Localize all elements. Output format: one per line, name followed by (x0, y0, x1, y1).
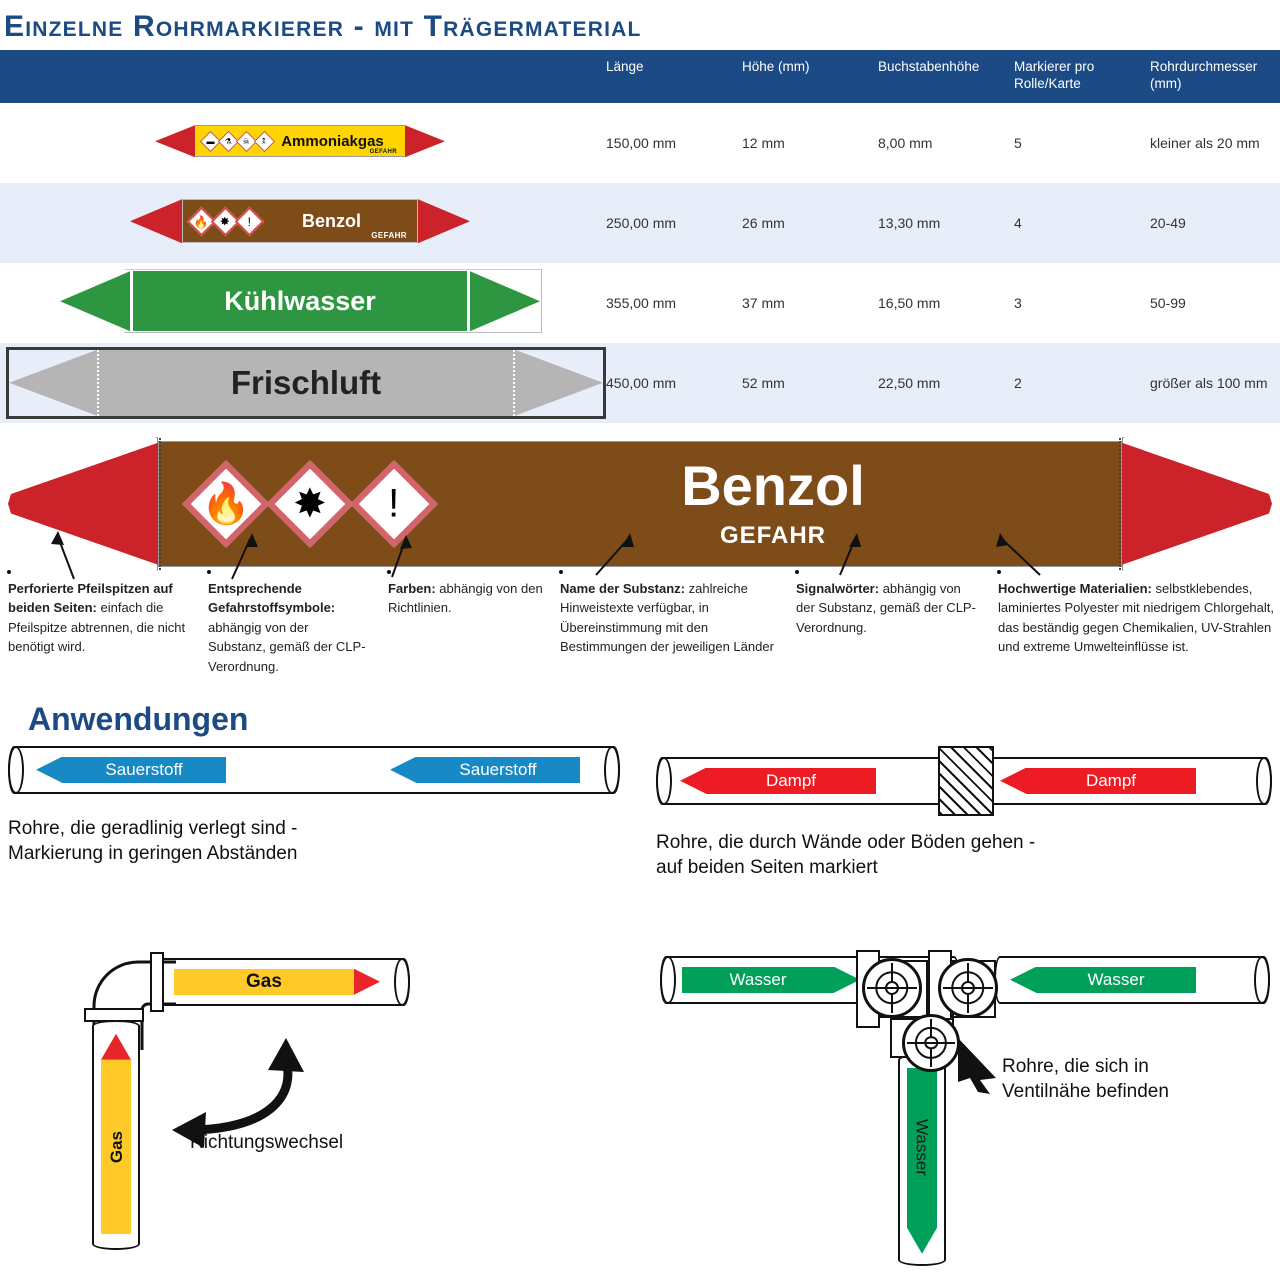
arrow-tip-right-icon (405, 125, 445, 157)
marker-substance-name: Gas (246, 971, 282, 993)
marker-substance-name: Dampf (766, 771, 816, 791)
marker-substance-name: Kühlwasser (137, 288, 463, 315)
cell-pipe-diameter: größer als 100 mm (1144, 343, 1280, 423)
application-caption: Rohre, die durch Wände oder Böden gehen … (656, 830, 1272, 881)
table-row: ▬ ⚗ ☠ 🕱 Ammoniakgas GEFAHR 150,00 mm 12 … (0, 103, 1280, 183)
cell-letter-height: 13,30 mm (872, 183, 1008, 263)
arrow-tip-left-icon (130, 199, 182, 243)
marker-label-area: Wasser (907, 1068, 937, 1228)
caption-line: Richtungswechsel (190, 1130, 343, 1156)
marker-substance-name: Benzol (425, 458, 1121, 514)
marker-body: 🔥 ✸ ! Benzol GEFAHR (158, 441, 1122, 567)
caption-line: Rohre, die sich in (1002, 1054, 1169, 1080)
marker-substance-name: Gas (108, 1131, 125, 1163)
hazard-pictogram-group: ▬ ⚗ ☠ 🕱 (199, 134, 272, 149)
exclamation-icon: ! (235, 206, 265, 236)
application-wall-pass: Dampf Dampf Rohre, die durch Wände oder … (656, 746, 1272, 881)
column-header-length: Länge (600, 50, 736, 103)
table-header-row: Länge Höhe (mm) Buchstabenhöhe Markierer… (0, 50, 1280, 103)
cell-pipe-diameter: kleiner als 20 mm (1144, 103, 1280, 183)
marker-sample-frischluft: Frischluft (0, 343, 600, 423)
pipe-marker-tape: Gas (101, 1034, 131, 1234)
marker-substance-name: Dampf (1086, 771, 1136, 791)
pipe-marker-tape: Sauerstoff (390, 757, 580, 783)
cell-height: 52 mm (736, 343, 872, 423)
marker-substance-name: Frischluft (101, 366, 511, 399)
perforation-line-left (159, 438, 161, 570)
arrow-left-icon (36, 757, 62, 783)
cell-per-roll: 3 (1008, 263, 1144, 343)
caption-line: Rohre, die geradlinig verlegt sind - (8, 816, 620, 842)
pipe-marker-tape: Dampf (1000, 768, 1196, 794)
pipe-graphic-horizontal: Gas (158, 958, 410, 1006)
caption-line: Markierung in geringen Abständen (8, 841, 620, 867)
arrow-tip-left-icon (60, 271, 130, 331)
callout-lead: Signalwörter: (796, 581, 879, 596)
pipe-marker-tape: Wasser (907, 1068, 937, 1254)
cell-height: 12 mm (736, 103, 872, 183)
application-valve-area: Wasser Wasser Wasser (650, 936, 1280, 1266)
arrow-tip-left-icon (155, 125, 195, 157)
arrow-tip-right-icon (515, 350, 603, 416)
cell-length: 355,00 mm (600, 263, 736, 343)
valve-handwheel-icon[interactable] (862, 958, 922, 1018)
callout-signal-words: Signalwörter: abhängig von der Substanz,… (796, 579, 976, 638)
pipe-end-cap-icon (1256, 757, 1272, 805)
marker-sample-benzol: 🔥 ✸ ! Benzol GEFAHR (0, 183, 600, 263)
cell-letter-height: 8,00 mm (872, 103, 1008, 183)
caption-line: Ventilnähe befinden (1002, 1079, 1169, 1105)
pipe-end-cap-icon (656, 757, 672, 805)
cell-length: 450,00 mm (600, 343, 736, 423)
marker-signal-word: GEFAHR (425, 522, 1121, 550)
pipe-graphic-right: Wasser (994, 956, 1270, 1004)
table-row: 🔥 ✸ ! Benzol GEFAHR 250,00 mm 26 mm 13,3… (0, 183, 1280, 263)
marker-substance-name: Wasser (730, 970, 787, 990)
marker-signal-word: GEFAHR (370, 149, 397, 155)
valve-handwheel-icon[interactable] (938, 958, 998, 1018)
arrow-right-icon (354, 969, 380, 995)
marker-label-area: Sauerstoff (416, 757, 580, 783)
pipe-marker: ▬ ⚗ ☠ 🕱 Ammoniakgas GEFAHR (155, 125, 445, 157)
marker-body: 🔥 ✸ ! Benzol GEFAHR (182, 199, 418, 243)
marker-substance-name: Sauerstoff (105, 760, 182, 780)
table-row: Kühlwasser 355,00 mm 37 mm 16,50 mm 3 50… (0, 263, 1280, 343)
cell-letter-height: 16,50 mm (872, 263, 1008, 343)
callout-hazard-symbols: Entsprechende Gefahrstoffsymbole: abhäng… (208, 579, 368, 677)
arrow-tip-right-icon (418, 199, 470, 243)
pipe-end-cap-icon (1254, 956, 1270, 1004)
perforation-line-right (513, 350, 515, 416)
pipe-marker-tape: Dampf (680, 768, 876, 794)
arrow-tip-left-icon (8, 437, 158, 571)
applications-heading: Anwendungen (0, 699, 1280, 746)
marker-sample-kuehlwasser: Kühlwasser (0, 263, 600, 343)
pipe-marker: 🔥 ✸ ! Benzol GEFAHR (130, 199, 470, 243)
marker-label-area: Dampf (706, 768, 876, 794)
column-header-sample (0, 50, 600, 103)
page-title: Einzelne Rohrmarkierer - mit Trägermater… (4, 10, 1280, 44)
pipe-end-cap-icon (8, 746, 24, 794)
callout-lead: Farben: (388, 581, 436, 596)
application-straight-pipe: Sauerstoff Sauerstoff Rohre, die geradli… (8, 746, 620, 867)
cell-per-roll: 4 (1008, 183, 1144, 263)
application-direction-change: Gas Gas Richtungswechsel (60, 948, 620, 1268)
callout-materials: Hochwertige Materialien: selbstklebendes… (998, 579, 1276, 657)
marker-label-block: Benzol GEFAHR (425, 458, 1121, 550)
callout-colors: Farben: abhängig von den Richtlinien. (388, 579, 548, 618)
marker-label-area: Gas (174, 969, 354, 995)
cell-pipe-diameter: 20-49 (1144, 183, 1280, 263)
arrow-left-icon (680, 768, 706, 794)
cell-length: 250,00 mm (600, 183, 736, 263)
marker-substance-name: Sauerstoff (459, 760, 536, 780)
table-row: Frischluft 450,00 mm 52 mm 22,50 mm 2 gr… (0, 343, 1280, 423)
pipe-marker-tape: Wasser (682, 967, 860, 993)
flame-icon: 🔥 (182, 460, 270, 548)
column-header-height: Höhe (mm) (736, 50, 872, 103)
arrow-tip-right-icon (1122, 437, 1272, 571)
callout-body: abhängig von der Substanz, gemäß der CLP… (208, 620, 366, 674)
marker-body: ▬ ⚗ ☠ 🕱 Ammoniakgas GEFAHR (195, 125, 405, 157)
pipe-end-cap-icon (604, 746, 620, 794)
arrow-left-icon (1000, 768, 1026, 794)
callout-lead: Entsprechende Gefahrstoffsymbole: (208, 581, 335, 616)
health-hazard-icon: ✸ (266, 460, 354, 548)
caption-line: auf beiden Seiten markiert (656, 855, 1272, 881)
wall-section-icon (938, 746, 994, 816)
marker-body: Kühlwasser (130, 271, 470, 331)
column-header-letter-height: Buchstabenhöhe (872, 50, 1008, 103)
perforation-line-right (1119, 438, 1121, 570)
cell-height: 37 mm (736, 263, 872, 343)
marker-label-area: Gas (101, 1060, 131, 1234)
application-caption: Richtungswechsel (190, 1130, 343, 1156)
pipe-end-cap-icon (394, 958, 410, 1006)
pipe-marker-tape: Sauerstoff (36, 757, 226, 783)
marker-substance-name: Wasser (1088, 970, 1145, 990)
cell-height: 26 mm (736, 183, 872, 263)
arrow-tip-left-icon (9, 350, 97, 416)
perforation-line-left (97, 350, 99, 416)
callout-lead: Hochwertige Materialien: (998, 581, 1152, 596)
pipe-flange-icon (150, 952, 164, 1012)
marker-substance-name: Benzol (260, 212, 413, 230)
marker-signal-word: GEFAHR (371, 231, 407, 240)
pipe-marker-tape: Wasser (1010, 967, 1196, 993)
hazard-pictogram-group: 🔥 ✸ ! (159, 473, 425, 535)
callout-group: Perforierte Pfeilspitzen auf beiden Seit… (0, 579, 1280, 699)
arrow-left-icon (1010, 967, 1036, 993)
cell-per-roll: 5 (1008, 103, 1144, 183)
callout-lead: Name der Substanz: (560, 581, 685, 596)
pipe-end-cap-icon (660, 956, 676, 1004)
marker-substance-name: Wasser (914, 1119, 931, 1176)
cell-letter-height: 22,50 mm (872, 343, 1008, 423)
arrow-up-icon (101, 1034, 131, 1060)
marker-label-area: Dampf (1026, 768, 1196, 794)
callout-substance-name: Name der Substanz: zahlreiche Hinweistex… (560, 579, 774, 657)
column-header-pipe-diameter: Rohrdurchmesser (mm) (1144, 50, 1280, 103)
marker-label-area: Sauerstoff (62, 757, 226, 783)
cell-pipe-diameter: 50-99 (1144, 263, 1280, 343)
hazard-pictogram-group: 🔥 ✸ ! (187, 211, 260, 232)
marker-substance-name: Ammoniakgas (272, 134, 401, 149)
marker-sample-ammoniakgas: ▬ ⚗ ☠ 🕱 Ammoniakgas GEFAHR (0, 103, 600, 183)
pipe-marker-tape: Gas (174, 969, 380, 995)
pipe-graphic: Sauerstoff Sauerstoff (8, 746, 620, 794)
arrow-tip-right-icon (470, 271, 540, 331)
page-header: Einzelne Rohrmarkierer - mit Trägermater… (0, 0, 1280, 50)
application-caption: Rohre, die sich in Ventilnähe befinden (1002, 1054, 1169, 1105)
marker-label-area: Wasser (682, 967, 834, 993)
cell-per-roll: 2 (1008, 343, 1144, 423)
callout-perforated-tips: Perforierte Pfeilspitzen auf beiden Seit… (8, 579, 194, 657)
marker-label-area: Wasser (1036, 967, 1196, 993)
cell-length: 150,00 mm (600, 103, 736, 183)
column-header-per-roll: Markierer pro Rolle/Karte (1008, 50, 1144, 103)
arrow-left-icon (390, 757, 416, 783)
pipe-marker-large: 🔥 ✸ ! Benzol GEFAHR (8, 437, 1272, 571)
pipe-marker: Frischluft (6, 347, 606, 419)
application-caption: Rohre, die geradlinig verlegt sind - Mar… (8, 816, 620, 867)
pipe-marker: Kühlwasser (60, 271, 540, 331)
caption-line: Rohre, die durch Wände oder Böden gehen … (656, 830, 1272, 856)
marker-body: Frischluft (97, 350, 515, 416)
specification-table: Länge Höhe (mm) Buchstabenhöhe Markierer… (0, 50, 1280, 423)
feature-marker-diagram: 🔥 ✸ ! Benzol GEFAHR (0, 429, 1280, 579)
arrow-down-icon (907, 1228, 937, 1254)
